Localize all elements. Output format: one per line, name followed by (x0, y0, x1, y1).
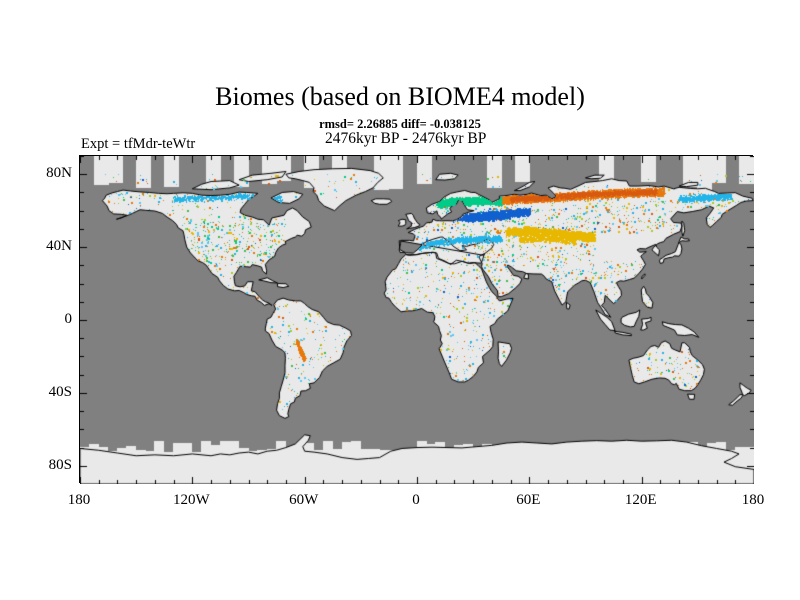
y-tick-label: 40N (12, 238, 72, 254)
world-biome-map (80, 156, 754, 484)
x-tick-label: 180 (713, 492, 793, 509)
x-axis: 180120W60W060E120E180 (79, 492, 753, 516)
x-tick-label: 120E (601, 492, 681, 509)
y-tick-label: 40S (12, 384, 72, 400)
x-tick-label: 120W (151, 492, 231, 509)
biome-map-figure: Biomes (based on BIOME4 model) rmsd= 2.2… (0, 0, 800, 600)
y-tick-label: 80N (12, 165, 72, 181)
experiment-label: Expt = tfMdr-teWtr (81, 136, 195, 153)
map-plot-area (79, 155, 753, 483)
x-tick-label: 180 (39, 492, 119, 509)
y-axis: 80N40N040S80S (8, 155, 72, 483)
x-tick-label: 60W (264, 492, 344, 509)
y-tick-label: 0 (12, 311, 72, 327)
x-tick-label: 0 (376, 492, 456, 509)
x-tick-label: 60E (488, 492, 568, 509)
time-period-label: 2476kyr BP - 2476kyr BP (325, 130, 486, 148)
statistics-text: rmsd= 2.26885 diff= -0.038125 (0, 117, 800, 131)
y-tick-label: 80S (12, 457, 72, 473)
page-title: Biomes (based on BIOME4 model) (0, 82, 800, 112)
